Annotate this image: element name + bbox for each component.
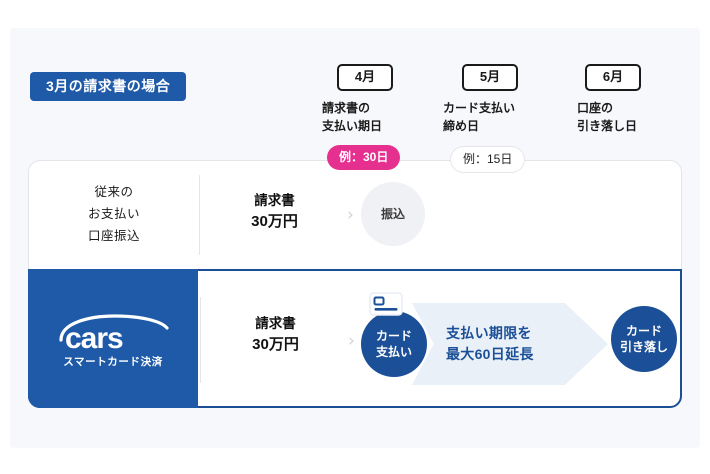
invoice-amount-value: 30万円: [208, 334, 343, 357]
card-withdrawal-circle: カード 引き落し: [611, 306, 677, 372]
banner-line1: 支払い期限を: [446, 323, 534, 344]
row-divider: [200, 297, 201, 383]
cars-logo-tagline: スマートカード決済: [63, 357, 163, 368]
month-column-june: 6月 口座の 引き落し日: [553, 64, 673, 135]
credit-card-icon: [368, 291, 404, 317]
legacy-payment-row: 従来の お支払い 口座振込 請求書 30万円 › 振込: [28, 160, 682, 270]
month-label-june: 6月: [585, 64, 641, 91]
legacy-label-line3: 口座振込: [88, 226, 140, 248]
month-label-may: 5月: [462, 64, 518, 91]
legacy-row-label: 従来の お支払い 口座振込: [29, 161, 199, 269]
card-withdrawal-line2: 引き落し: [620, 339, 668, 355]
legacy-label-line2: お支払い: [88, 204, 140, 226]
month-desc-line2: 引き落し日: [577, 118, 673, 135]
legacy-label-line1: 従来の: [94, 182, 133, 204]
chevron-right-icon: ›: [347, 207, 354, 224]
month-desc-line2: 締め日: [443, 118, 550, 135]
title-badge: 3月の請求書の場合: [30, 72, 186, 101]
cars-logo-icon: cars: [49, 310, 177, 356]
month-label-april: 4月: [337, 64, 393, 91]
card-payment-line2: 支払い: [376, 344, 412, 360]
month-desc-line1: カード支払い: [443, 100, 550, 117]
month-description-may: カード支払い 締め日: [430, 100, 550, 135]
month-desc-line1: 請求書の: [322, 100, 425, 117]
month-column-april: 4月 請求書の 支払い期日: [305, 64, 425, 135]
cars-payment-row: cars スマートカード決済 請求書 30万円 › 支払い期限を 最大60日延長: [28, 269, 682, 408]
cars-invoice-amount: 請求書 30万円: [208, 314, 343, 357]
invoice-amount-value: 30万円: [207, 211, 342, 234]
infographic-root: 3月の請求書の場合 4月 請求書の 支払い期日 5月 カード支払い 締め日 6月…: [0, 0, 710, 474]
extension-banner: 支払い期限を 最大60日延長: [412, 303, 608, 385]
extension-banner-text: 支払い期限を 最大60日延長: [446, 323, 534, 365]
invoice-label: 請求書: [207, 191, 342, 211]
legacy-transfer-circle: 振込: [361, 182, 425, 246]
legacy-invoice-amount: 請求書 30万円: [207, 191, 342, 234]
banner-line2: 最大60日延長: [446, 344, 534, 365]
card-payment-circle: カード 支払い: [361, 311, 427, 377]
invoice-label: 請求書: [208, 314, 343, 334]
month-desc-line1: 口座の: [577, 100, 673, 117]
chevron-right-icon: ›: [348, 333, 355, 350]
month-description-april: 請求書の 支払い期日: [305, 100, 425, 135]
cars-logo-cell: cars スマートカード決済: [28, 269, 198, 408]
card-withdrawal-line1: カード: [626, 323, 662, 339]
month-column-may: 5月 カード支払い 締め日: [430, 64, 550, 135]
row-divider: [199, 175, 200, 255]
card-payment-line1: カード: [376, 328, 412, 344]
month-desc-line2: 支払い期日: [322, 118, 425, 135]
month-description-june: 口座の 引き落し日: [553, 100, 673, 135]
svg-text:cars: cars: [65, 322, 123, 355]
example-date-pill-april: 例：30日: [327, 145, 400, 170]
example-date-pill-may: 例：15日: [450, 146, 525, 173]
legacy-transfer-label: 振込: [381, 206, 405, 222]
